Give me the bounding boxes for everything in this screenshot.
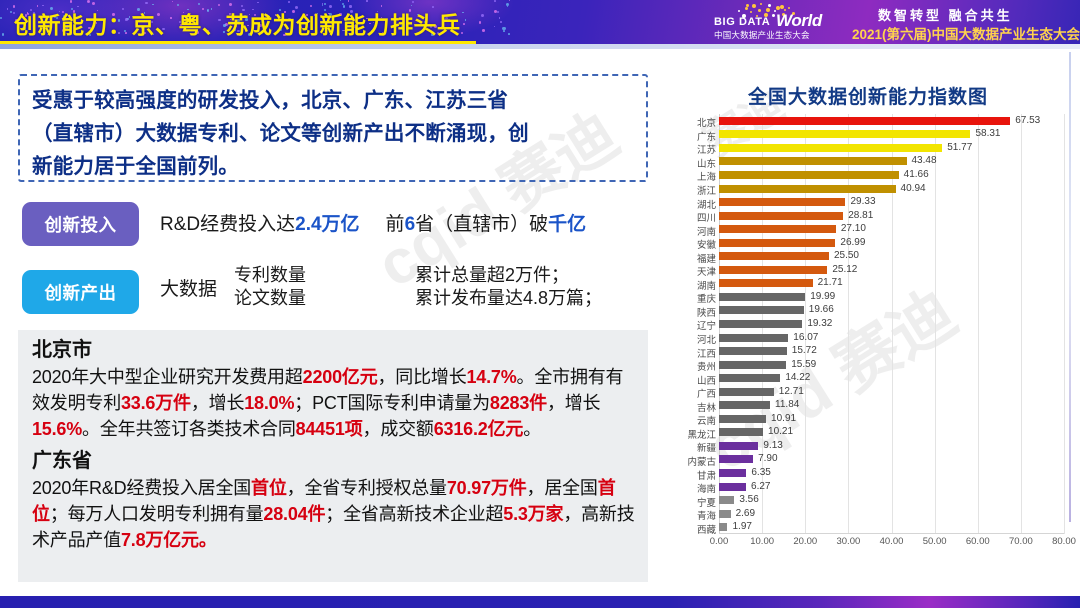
- chart-bar: [719, 185, 896, 193]
- summary-line-3: 新能力居于全国前列。: [32, 150, 634, 183]
- chart-value-label: 11.84: [775, 399, 799, 410]
- invest-text-a-highlight: 2.4万亿: [295, 214, 359, 235]
- chart-bar-row: 江西15.72: [678, 344, 1064, 358]
- chart-bar: [719, 361, 786, 369]
- chart-x-tick-label: 0.00: [710, 536, 729, 547]
- chart-bar-row: 湖北29.33: [678, 195, 1064, 209]
- chart-value-label: 28.81: [848, 210, 873, 221]
- chart-bar-row: 甘肃6.35: [678, 466, 1064, 480]
- summary-callout-box: 受惠于较高强度的研发投入，北京、广东、江苏三省 （直辖市）大数据专利、论文等创新…: [18, 74, 648, 182]
- chart-bar-row: 广东58.31: [678, 128, 1064, 142]
- chart-value-label: 15.59: [791, 359, 816, 370]
- chart-value-label: 6.27: [751, 481, 770, 492]
- chart-value-label: 25.12: [832, 264, 857, 275]
- body-text: 。: [523, 419, 541, 439]
- chart-x-tick-label: 10.00: [750, 536, 774, 547]
- chart-bar-row: 黑龙江10.21: [678, 426, 1064, 440]
- chart-x-tick-label: 60.00: [966, 536, 990, 547]
- output-item-1: 专利数量: [234, 264, 306, 287]
- logo-bigdata-text: BIG DATA: [714, 16, 770, 28]
- page-title: 创新能力：京、粤、苏成为创新能力排头兵: [14, 6, 461, 40]
- invest-text-a-pre: R&D经费投入达: [160, 214, 295, 235]
- chart-bar: [719, 388, 774, 396]
- chart-bar: [719, 130, 970, 138]
- chart-value-label: 25.50: [834, 250, 859, 261]
- chart-value-label: 9.13: [763, 440, 782, 451]
- chart-bar: [719, 171, 899, 179]
- chart-bar-rows: 北京67.53广东58.31江苏51.77山东43.48上海41.66浙江40.…: [678, 114, 1064, 534]
- chart-bar: [719, 320, 802, 328]
- output-value-2: 累计发布量达4.8万篇；: [415, 287, 602, 310]
- bigdata-world-logo: BIG DATA World 中国大数据产业生态大会: [714, 2, 834, 42]
- highlight-value: 14.7%: [467, 367, 517, 387]
- chart-bar-row: 湖南21.71: [678, 277, 1064, 291]
- chart-value-label: 10.91: [771, 413, 796, 424]
- chart-bar: [719, 239, 835, 247]
- chart-value-label: 21.71: [818, 277, 843, 288]
- beijing-body-text: 2020年大中型企业研究开发费用超2200亿元，同比增长14.7%。全市拥有有效…: [32, 364, 638, 442]
- chart-bar: [719, 428, 763, 436]
- highlight-value: 2200亿元: [303, 367, 378, 387]
- highlight-value: 33.6万件: [121, 393, 191, 413]
- chart-bar-row: 上海41.66: [678, 168, 1064, 182]
- chart-bar: [719, 117, 1010, 125]
- chart-value-label: 41.66: [904, 169, 929, 180]
- chart-value-label: 40.94: [901, 183, 926, 194]
- body-text: ，同比增长: [378, 367, 467, 387]
- beijing-heading: 北京市: [32, 338, 638, 363]
- invest-text-b-mid: 省（直辖市）破: [415, 214, 548, 235]
- conference-slogan: 数智转型 融合共生: [878, 5, 1013, 24]
- chart-category-label: 西藏: [678, 522, 716, 536]
- body-text: ，增长: [191, 393, 244, 413]
- innovation-index-chart: 全国大数据创新能力指数图 北京67.53广东58.31江苏51.77山东43.4…: [668, 78, 1068, 583]
- chart-value-label: 27.10: [841, 223, 866, 234]
- body-text: ，增长: [547, 393, 600, 413]
- guangdong-body-text: 2020年R&D经费投入居全国首位，全省专利授权总量70.97万件，居全国首位；…: [32, 475, 638, 553]
- chart-value-label: 14.22: [785, 372, 810, 383]
- chart-bar-row: 内蒙古7.90: [678, 453, 1064, 467]
- chart-bar-row: 山西14.22: [678, 371, 1064, 385]
- highlight-value: 18.0%: [244, 393, 294, 413]
- chart-bar-row: 福建25.50: [678, 249, 1064, 263]
- chart-bar: [719, 483, 746, 491]
- invest-text-b-number: 6: [405, 214, 416, 235]
- chart-plot-area: 北京67.53广东58.31江苏51.77山东43.48上海41.66浙江40.…: [678, 114, 1064, 550]
- chart-bar-row: 江苏51.77: [678, 141, 1064, 155]
- header-divider: [0, 44, 1080, 49]
- chart-bar: [719, 198, 845, 206]
- chart-bar: [719, 252, 829, 260]
- chart-bar: [719, 415, 766, 423]
- chart-value-label: 16.07: [793, 332, 818, 343]
- chart-bar-row: 云南10.91: [678, 412, 1064, 426]
- chart-bar: [719, 144, 942, 152]
- chart-value-label: 15.72: [792, 345, 817, 356]
- chart-value-label: 51.77: [947, 142, 972, 153]
- chart-bar-row: 山东43.48: [678, 155, 1064, 169]
- chart-bar-row: 新疆9.13: [678, 439, 1064, 453]
- output-prefix-label: 大数据: [160, 274, 217, 301]
- chart-bar-row: 吉林11.84: [678, 399, 1064, 413]
- body-text: 2020年R&D经费投入居全国: [32, 478, 251, 498]
- chart-value-label: 6.35: [751, 467, 770, 478]
- chart-value-label: 3.56: [739, 494, 758, 505]
- chart-bar-row: 安徽26.99: [678, 236, 1064, 250]
- highlight-value: 70.97万件: [447, 478, 527, 498]
- badge-innovation-output: 创新产出: [22, 270, 139, 314]
- chart-value-label: 58.31: [975, 128, 1000, 139]
- chart-bar: [719, 469, 746, 477]
- chart-x-tick-label: 70.00: [1009, 536, 1033, 547]
- chart-x-tick-label: 50.00: [923, 536, 947, 547]
- invest-text-b-highlight: 千亿: [548, 214, 586, 235]
- chart-value-label: 12.71: [779, 386, 804, 397]
- body-text: 2020年大中型企业研究开发费用超: [32, 367, 303, 387]
- highlight-value: 5.3万家: [503, 504, 563, 524]
- chart-bar-row: 辽宁19.32: [678, 317, 1064, 331]
- conference-name: 2021(第六届)中国大数据产业生态大会: [852, 23, 1080, 43]
- chart-value-label: 7.90: [758, 453, 777, 464]
- chart-x-tick-label: 40.00: [880, 536, 904, 547]
- chart-bar: [719, 279, 813, 287]
- highlight-value: 首位: [251, 478, 287, 498]
- chart-bar: [719, 225, 836, 233]
- chart-bar-row: 重庆19.99: [678, 290, 1064, 304]
- chart-x-tick-label: 80.00: [1052, 536, 1076, 547]
- summary-line-1: 受惠于较高强度的研发投入，北京、广东、江苏三省: [32, 84, 634, 117]
- chart-bar: [719, 347, 787, 355]
- chart-bar: [719, 455, 753, 463]
- body-text: ，成交额: [363, 419, 434, 439]
- chart-bar: [719, 374, 780, 382]
- chart-bar: [719, 306, 804, 314]
- chart-bar-row: 河北16.07: [678, 331, 1064, 345]
- body-text: ，全省专利授权总量: [287, 478, 447, 498]
- chart-bar-row: 河南27.10: [678, 222, 1064, 236]
- chart-bar: [719, 293, 805, 301]
- chart-bar: [719, 523, 727, 531]
- chart-value-label: 29.33: [850, 196, 875, 207]
- chart-value-label: 1.97: [732, 521, 751, 532]
- highlight-value: 28.04件: [263, 504, 325, 524]
- body-text: ；全省高新技术企业超: [325, 504, 503, 524]
- guangdong-heading: 广东省: [32, 449, 638, 474]
- chart-bar-row: 宁夏3.56: [678, 493, 1064, 507]
- slide-footer: [0, 596, 1080, 608]
- chart-bar: [719, 510, 731, 518]
- invest-text-b-pre: 前: [386, 214, 405, 235]
- chart-bar-row: 广西12.71: [678, 385, 1064, 399]
- province-detail-panel: 北京市 2020年大中型企业研究开发费用超2200亿元，同比增长14.7%。全市…: [18, 330, 648, 582]
- chart-value-label: 19.66: [809, 304, 834, 315]
- chart-bar: [719, 212, 843, 220]
- output-value-list: 累计总量超2万件； 累计发布量达4.8万篇；: [415, 264, 602, 310]
- chart-bar-row: 海南6.27: [678, 480, 1064, 494]
- chart-x-tick-label: 20.00: [793, 536, 817, 547]
- logo-world-text: World: [776, 11, 822, 31]
- chart-value-label: 10.21: [768, 426, 793, 437]
- highlight-value: 8283件: [490, 393, 547, 413]
- chart-gridline: [1064, 114, 1065, 534]
- body-text: 。全年共签订各类技术合同: [82, 419, 296, 439]
- summary-line-2: （直辖市）大数据专利、论文等创新产出不断涌现，创: [32, 117, 634, 150]
- output-item-2: 论文数量: [234, 287, 306, 310]
- chart-value-label: 19.99: [810, 291, 835, 302]
- chart-bar: [719, 496, 734, 504]
- chart-value-label: 43.48: [912, 155, 937, 166]
- chart-bar-row: 四川28.81: [678, 209, 1064, 223]
- output-value-1: 累计总量超2万件；: [415, 264, 602, 287]
- badge-innovation-investment: 创新投入: [22, 202, 139, 246]
- slide-root: 创新能力：京、粤、苏成为创新能力排头兵 BIG DATA World 中国大数据…: [0, 0, 1080, 608]
- body-text: ，居全国: [527, 478, 598, 498]
- chart-bar: [719, 157, 907, 165]
- body-text: ；每万人口发明专利拥有量: [50, 504, 264, 524]
- chart-bar-row: 浙江40.94: [678, 182, 1064, 196]
- chart-bar-row: 西藏1.97: [678, 520, 1064, 534]
- highlight-value: 6316.2亿元: [434, 419, 523, 439]
- chart-bar: [719, 334, 788, 342]
- chart-value-label: 26.99: [840, 237, 865, 248]
- chart-x-tick-label: 30.00: [836, 536, 860, 547]
- highlight-value: 7.8万亿元。: [121, 530, 217, 550]
- chart-value-label: 19.32: [807, 318, 832, 329]
- chart-title: 全国大数据创新能力指数图: [668, 82, 1068, 109]
- logo-subtitle-text: 中国大数据产业生态大会: [714, 29, 810, 41]
- chart-bar-row: 天津25.12: [678, 263, 1064, 277]
- output-item-list: 专利数量 论文数量: [234, 264, 306, 310]
- chart-value-label: 2.69: [736, 508, 755, 519]
- chart-bar: [719, 401, 770, 409]
- chart-bar: [719, 266, 827, 274]
- chart-bar-row: 青海2.69: [678, 507, 1064, 521]
- highlight-value: 15.6%: [32, 419, 82, 439]
- body-text: ；PCT国际专利申请量为: [294, 393, 490, 413]
- chart-bar-row: 贵州15.59: [678, 358, 1064, 372]
- chart-x-axis: 0.0010.0020.0030.0040.0050.0060.0070.008…: [719, 534, 1064, 550]
- slide-header: 创新能力：京、粤、苏成为创新能力排头兵 BIG DATA World 中国大数据…: [0, 0, 1080, 44]
- right-edge-accent: [1069, 52, 1071, 522]
- chart-bar: [719, 442, 758, 450]
- highlight-value: 84451项: [296, 419, 363, 439]
- chart-bar-row: 北京67.53: [678, 114, 1064, 128]
- innovation-investment-text: R&D经费投入达2.4万亿前6省（直辖市）破千亿: [160, 209, 660, 236]
- chart-bar-row: 陕西19.66: [678, 304, 1064, 318]
- chart-value-label: 67.53: [1015, 115, 1040, 126]
